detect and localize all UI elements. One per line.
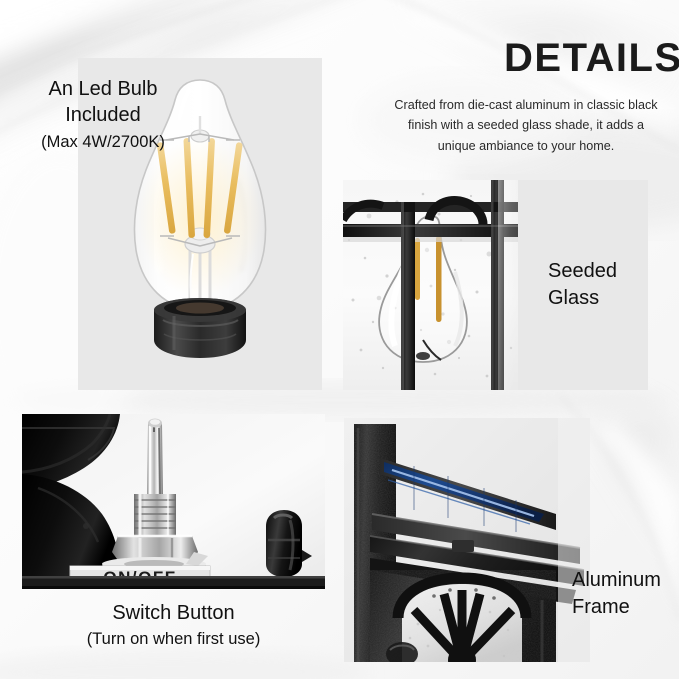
- toggle-lever: [147, 419, 163, 497]
- aluminum-frame-title-line2: Frame: [572, 594, 630, 621]
- led-bulb-title-line1: An Led Bulb: [8, 76, 198, 103]
- led-bulb-subtitle: (Max 4W/2700K): [0, 132, 206, 154]
- seeded-glass-photo: [343, 180, 518, 390]
- filament-right: [436, 236, 442, 322]
- roof-latch: [452, 540, 474, 552]
- aluminum-frame-photo: [344, 418, 590, 662]
- switch-button-panel: ON/OFF: [22, 414, 325, 589]
- seeded-glass-panel: [343, 180, 648, 390]
- switch-button-subtitle: (Turn on when first use): [22, 629, 325, 651]
- details-description: Crafted from die-cast aluminum in classi…: [394, 95, 658, 156]
- window-assembly: [398, 578, 526, 662]
- aluminum-frame-title-line1: Aluminum: [572, 567, 661, 594]
- seeded-glass-title-line1: Seeded: [548, 258, 617, 285]
- page-title: DETAILS: [504, 38, 679, 78]
- switch-button-title: Switch Button: [22, 600, 325, 627]
- seeded-glass-title-line2: Glass: [548, 285, 599, 312]
- filament-left: [415, 238, 420, 300]
- aluminum-frame-panel: [344, 418, 590, 662]
- switch-barrel: [134, 494, 176, 536]
- led-bulb-title-line2: Included: [8, 102, 198, 129]
- switch-button-photo: ON/OFF: [22, 414, 325, 589]
